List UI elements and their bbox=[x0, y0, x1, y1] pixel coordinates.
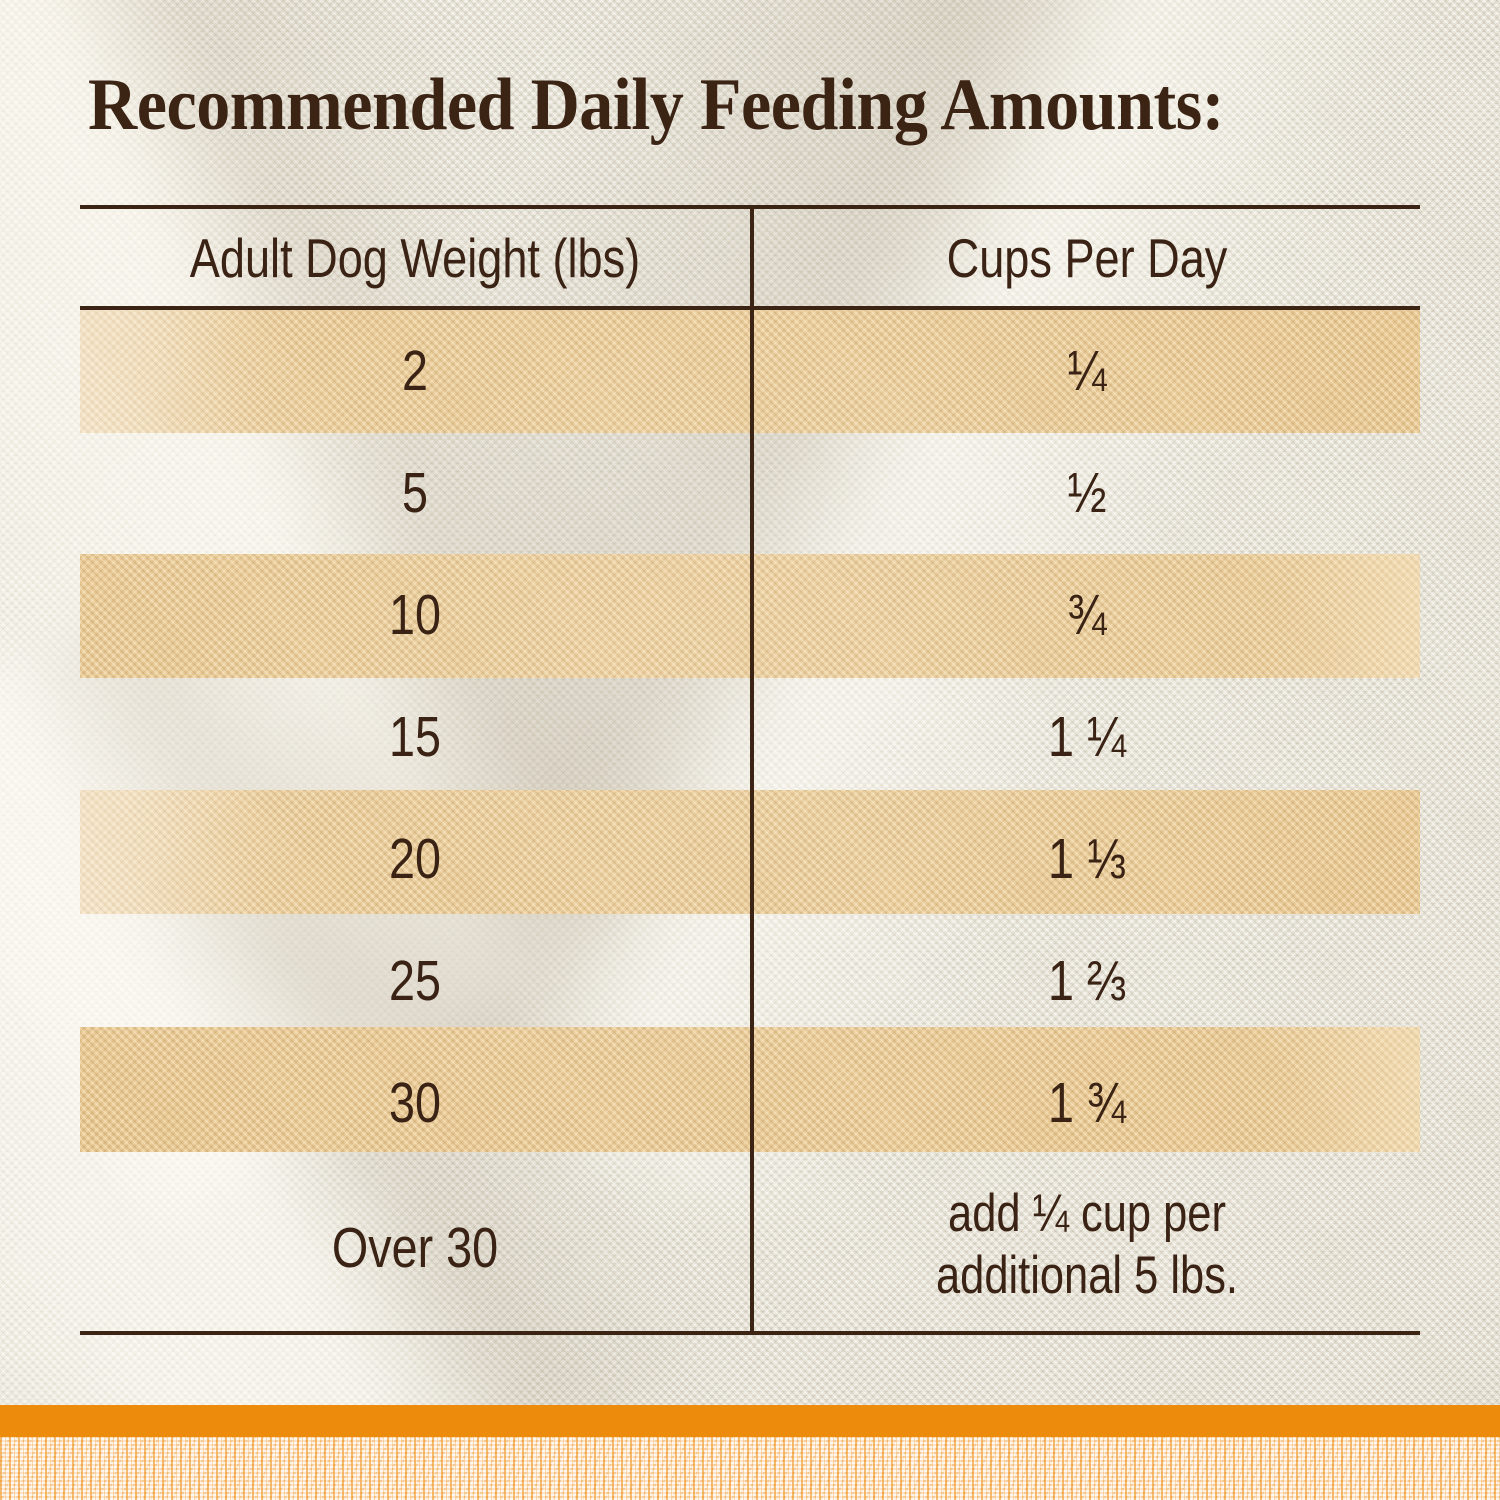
overflow-line-1: add ¼ cup per bbox=[948, 1183, 1226, 1244]
table-row: 1 ⅔ bbox=[814, 920, 1360, 1042]
table-row: Over 30 bbox=[140, 1165, 689, 1331]
table-row: 25 bbox=[140, 920, 689, 1042]
table-row: 10 bbox=[140, 554, 689, 676]
column-header-cups: Cups Per Day bbox=[814, 209, 1360, 306]
table-row: 15 bbox=[140, 676, 689, 798]
table-row: ¾ bbox=[814, 554, 1360, 676]
feeding-chart-page: Recommended Daily Feeding Amounts: Adult… bbox=[0, 0, 1500, 1500]
table-row: ½ bbox=[814, 432, 1360, 554]
feeding-table: Adult Dog Weight (lbs) Cups Per Day 2 ¼ … bbox=[80, 205, 1420, 1335]
table-row: 20 bbox=[140, 798, 689, 920]
accent-orange-bar bbox=[0, 1405, 1500, 1437]
table-row: add ¼ cup per additional 5 lbs. bbox=[814, 1157, 1360, 1332]
table-row: 5 bbox=[140, 432, 689, 554]
page-title: Recommended Daily Feeding Amounts: bbox=[88, 68, 1339, 142]
column-header-weight: Adult Dog Weight (lbs) bbox=[140, 209, 689, 306]
table-column-divider bbox=[750, 209, 754, 1333]
table-row: 2 bbox=[140, 310, 689, 432]
table-row: ¼ bbox=[814, 310, 1360, 432]
table-row: 1 ⅓ bbox=[814, 798, 1360, 920]
table-row: 1 ¼ bbox=[814, 676, 1360, 798]
table-row: 30 bbox=[140, 1042, 689, 1164]
table-row: 1 ¾ bbox=[814, 1042, 1360, 1164]
peach-texture-strip bbox=[0, 1437, 1500, 1500]
overflow-line-2: additional 5 lbs. bbox=[936, 1245, 1238, 1306]
